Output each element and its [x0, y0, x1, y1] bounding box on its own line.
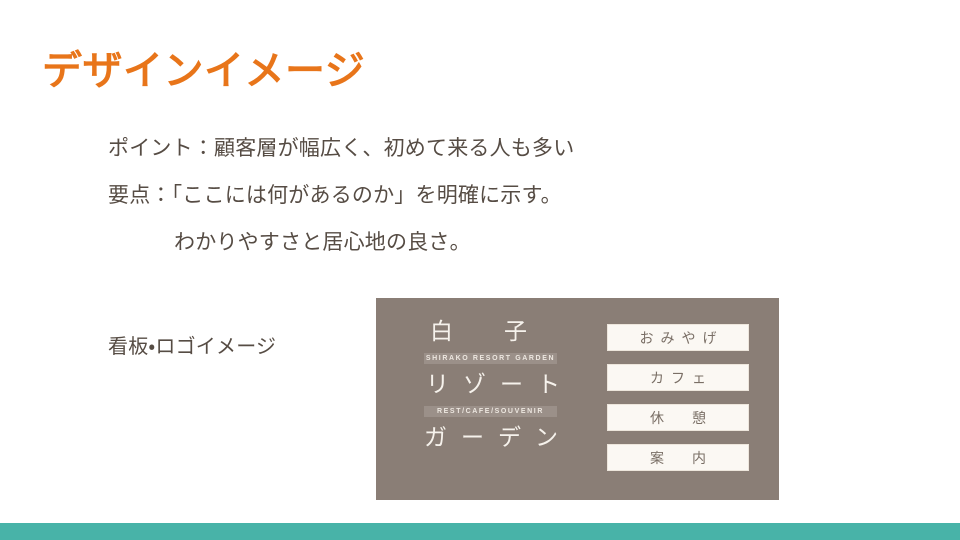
sign-box-label-rest: 休 憩	[643, 408, 713, 428]
sign-box-cafe: カフェ	[607, 364, 749, 391]
sign-box-label-souvenir: おみやげ	[633, 328, 724, 348]
body-text-block: ポイント：顧客層が幅広く、初めて来る人も多い 要点：「ここには何があるのか」を明…	[108, 138, 748, 279]
sign-box-souvenir: おみやげ	[607, 324, 749, 351]
sign-logo-romaji-top: SHIRAKO RESORT GARDEN	[424, 353, 557, 364]
body-line-key-sub: わかりやすさと居心地の良さ。	[174, 232, 748, 253]
body-line-key: 要点：「ここには何があるのか」を明確に示す。	[108, 185, 748, 206]
sign-logo-caption: 看板・ロゴイメージ	[108, 330, 276, 359]
page-title: デザインイメージ	[42, 48, 365, 94]
body-line-point: ポイント：顧客層が幅広く、初めて来る人も多い	[108, 138, 748, 159]
slide-canvas: デザインイメージ ポイント：顧客層が幅広く、初めて来る人も多い 要点：「ここには…	[0, 0, 960, 540]
sign-box-label-cafe: カフェ	[643, 368, 713, 388]
sign-facility-list: おみやげ カフェ 休 憩 案 内	[607, 324, 749, 471]
sign-logo-romaji-bottom: REST/CAFE/SOUVENIR	[424, 406, 557, 417]
sign-image: 白 子 SHIRAKO RESORT GARDEN リゾート REST/CAFE…	[376, 298, 779, 500]
sign-box-information: 案 内	[607, 444, 749, 471]
sign-logo-line-garden: ガーデン	[424, 426, 584, 449]
sign-box-label-information: 案 内	[643, 448, 713, 468]
bottom-accent-bar	[0, 523, 960, 540]
sign-box-rest: 休 憩	[607, 404, 749, 431]
sign-logo-line-shirako: 白 子	[424, 320, 584, 343]
sign-logo-block: 白 子 SHIRAKO RESORT GARDEN リゾート REST/CAFE…	[424, 320, 584, 449]
sign-logo-line-resort: リゾート	[424, 373, 584, 396]
